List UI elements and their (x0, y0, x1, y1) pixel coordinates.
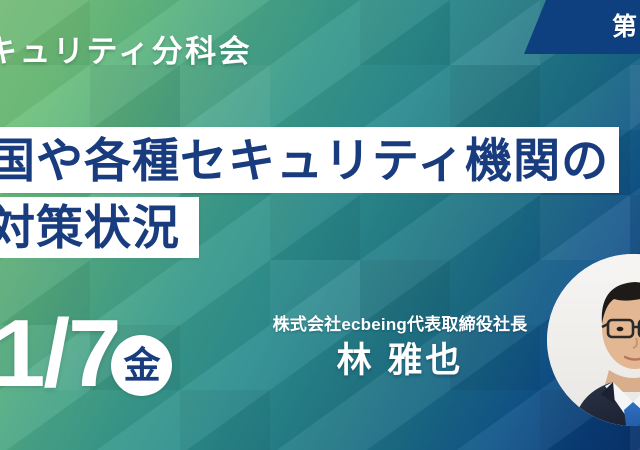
tile-triangle-dark (270, 65, 360, 130)
tile-triangle-dark (270, 0, 360, 65)
tile-triangle-light (270, 0, 360, 65)
event-date-text: 1/7 (0, 306, 119, 402)
weekday-badge: 金 (111, 335, 172, 396)
speaker-name-text: 林 雅也 (266, 343, 534, 378)
tile-triangle-light (0, 65, 90, 130)
event-date-block: 1/7 金 (0, 306, 172, 402)
tile-triangle-light (180, 260, 270, 325)
background-tile (540, 65, 630, 130)
tile-triangle-dark (0, 65, 90, 130)
tile-triangle-light (270, 195, 360, 260)
background-tile (360, 390, 450, 450)
tile-triangle-dark (180, 65, 270, 130)
background-tile (360, 65, 450, 130)
tile-triangle-light (360, 195, 450, 260)
tile-triangle-light (450, 195, 540, 260)
background-tile (90, 65, 180, 130)
title-band-line1: 国や各種セキュリティ機関の (0, 127, 619, 193)
tile-triangle-dark (450, 65, 540, 130)
background-tile (450, 0, 540, 65)
tile-triangle-light (180, 325, 270, 390)
tile-triangle-light (360, 390, 450, 450)
speaker-portrait-illustration (547, 254, 640, 426)
background-tile (180, 65, 270, 130)
title-band-line2: 対策状況 (0, 197, 199, 258)
speaker-role-text: 株式会社ecbeing代表取締役社長 (266, 316, 534, 335)
tile-triangle-light (630, 195, 640, 260)
title-line1-text: 国や各種セキュリティ機関の (0, 137, 609, 184)
tile-triangle-dark (630, 130, 640, 195)
tile-triangle-dark (450, 390, 540, 450)
tile-triangle-dark (360, 195, 450, 260)
tile-triangle-dark (450, 195, 540, 260)
weekday-label: 金 (123, 347, 160, 384)
tile-triangle-dark (360, 65, 450, 130)
background-tile (270, 65, 360, 130)
tile-triangle-light (540, 195, 630, 260)
background-tile (180, 390, 270, 450)
speaker-info: 株式会社ecbeing代表取締役社長 林 雅也 (266, 316, 534, 378)
tile-triangle-dark (540, 195, 630, 260)
background-tile (540, 195, 630, 260)
background-tile (450, 195, 540, 260)
background-tile (450, 390, 540, 450)
tile-triangle-dark (180, 260, 270, 325)
background-tile (360, 0, 450, 65)
background-tile (450, 65, 540, 130)
series-kicker-label: キュリティ分科会 (0, 36, 252, 67)
background-tile (270, 0, 360, 65)
tile-triangle-light (360, 65, 450, 130)
background-tile (630, 65, 640, 130)
tile-triangle-light (360, 0, 450, 65)
background-tile (180, 260, 270, 325)
tile-triangle-light (630, 130, 640, 195)
tile-triangle-dark (360, 0, 450, 65)
tile-triangle-dark (630, 195, 640, 260)
issue-number-flag: 第 (524, 0, 640, 54)
title-line2-text: 対策状況 (0, 204, 180, 251)
tile-triangle-light (540, 65, 630, 130)
tile-triangle-dark (540, 65, 630, 130)
background-tile (630, 195, 640, 260)
seminar-banner: 第 キュリティ分科会 国や各種セキュリティ機関の 対策状況 1/7 金 株式会社… (0, 0, 640, 450)
tile-triangle-dark (270, 195, 360, 260)
tile-triangle-dark (450, 0, 540, 65)
tile-triangle-dark (180, 325, 270, 390)
tile-triangle-light (450, 0, 540, 65)
tile-triangle-dark (270, 390, 360, 450)
background-tile (0, 65, 90, 130)
tile-triangle-dark (630, 65, 640, 130)
background-tile (180, 325, 270, 390)
issue-number-label: 第 (612, 15, 640, 40)
tile-triangle-light (270, 65, 360, 130)
tile-triangle-light (90, 65, 180, 130)
background-tile (360, 195, 450, 260)
tile-triangle-light (180, 65, 270, 130)
tile-triangle-light (630, 65, 640, 130)
tile-triangle-dark (90, 65, 180, 130)
speaker-portrait (547, 254, 640, 426)
tile-triangle-light (450, 390, 540, 450)
tile-triangle-light (270, 390, 360, 450)
tile-triangle-dark (360, 390, 450, 450)
tile-triangle-dark (180, 390, 270, 450)
tile-triangle-light (180, 390, 270, 450)
tile-triangle-light (450, 65, 540, 130)
background-tile (270, 390, 360, 450)
background-tile (270, 195, 360, 260)
background-tile (630, 130, 640, 195)
